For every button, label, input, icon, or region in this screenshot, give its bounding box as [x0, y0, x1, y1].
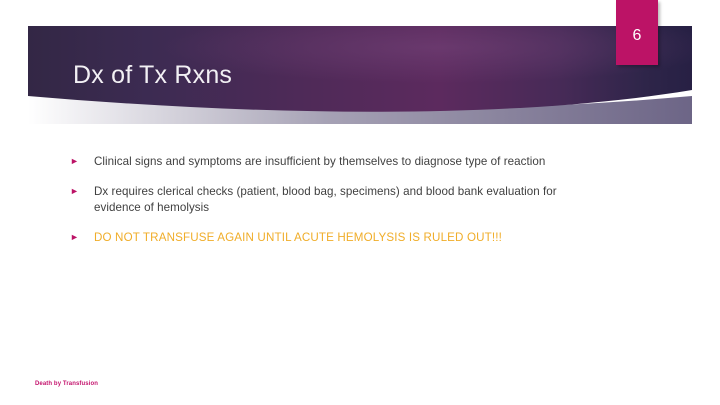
- list-item-warning-text: DO NOT TRANSFUSE AGAIN UNTIL ACUTE HEMOL…: [94, 230, 570, 247]
- page-title: Dx of Tx Rxns: [73, 62, 232, 90]
- bullet-list: ► Clinical signs and symptoms are insuff…: [70, 154, 570, 259]
- page-number-badge: 6: [616, 0, 658, 65]
- triangle-bullet-icon: ►: [70, 184, 94, 196]
- presentation-slide: Dx of Tx Rxns 6 ► Clinical signs and sym…: [0, 0, 720, 405]
- page-number-value: 6: [616, 28, 658, 44]
- list-item: ► Dx requires clerical checks (patient, …: [70, 184, 570, 217]
- slide-footer: Death by Transfusion: [35, 381, 98, 387]
- list-item: ► Clinical signs and symptoms are insuff…: [70, 154, 570, 171]
- list-item-text: Clinical signs and symptoms are insuffic…: [94, 154, 570, 171]
- triangle-bullet-icon: ►: [70, 230, 94, 242]
- list-item-text: Dx requires clerical checks (patient, bl…: [94, 184, 570, 217]
- triangle-bullet-icon: ►: [70, 154, 94, 166]
- list-item-warning: ► DO NOT TRANSFUSE AGAIN UNTIL ACUTE HEM…: [70, 230, 570, 247]
